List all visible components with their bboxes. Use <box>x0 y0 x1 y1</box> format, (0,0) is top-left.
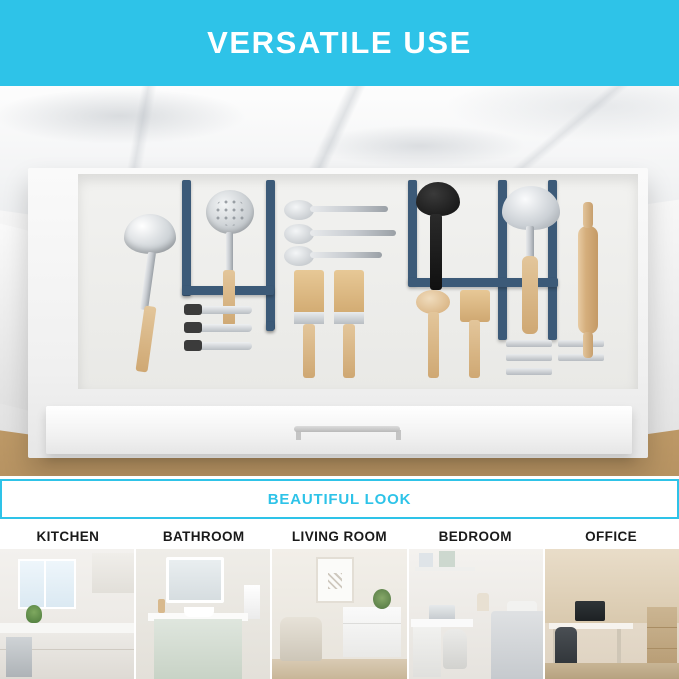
kitchen-upper-cabinet <box>92 553 134 593</box>
living-room-photo <box>272 549 406 679</box>
fork-4 <box>558 340 604 347</box>
pot-lid-shaft <box>526 226 534 260</box>
knife-1-blade <box>198 306 252 314</box>
bedroom-photo <box>409 549 543 679</box>
beautiful-look-bar: BEAUTIFUL LOOK <box>0 479 679 519</box>
room-label-kitchen: KITCHEN <box>0 523 136 549</box>
living-room-sideboard <box>343 607 401 657</box>
serving-spoon-2-handle <box>310 230 396 236</box>
wooden-spatula-head <box>460 290 490 322</box>
serving-spoon-3-handle <box>310 252 382 258</box>
knife-2-blade <box>198 324 252 332</box>
divider-horizontal-3 <box>266 322 274 331</box>
hero-image <box>0 86 679 476</box>
living-room-plant <box>373 589 391 609</box>
wooden-spatula-handle <box>469 320 480 378</box>
fork-1 <box>506 340 552 347</box>
wooden-spoon-handle <box>428 312 439 378</box>
room-label-living-room: LIVING ROOM <box>272 523 408 549</box>
bathroom-bottle <box>158 599 165 613</box>
fork-5 <box>558 354 604 361</box>
bathroom-vanity <box>154 619 242 679</box>
bathroom-sink <box>184 607 214 617</box>
pastry-brush-1-ferrule <box>294 312 324 324</box>
bedroom-desk <box>411 619 473 627</box>
bedroom-shelf-box-2 <box>439 551 455 567</box>
rolling-pin-handle-top <box>583 202 593 228</box>
knife-1-handle <box>184 304 202 315</box>
knife-3-handle <box>184 340 202 351</box>
bedroom-shelf <box>415 567 475 571</box>
pastry-brush-2-bristles <box>334 270 364 314</box>
room-label-row: KITCHEN BATHROOM LIVING ROOM BEDROOM OFF… <box>0 523 679 549</box>
kitchen-photo <box>0 549 134 679</box>
pot-lid-handle <box>522 256 538 334</box>
room-label-bathroom: BATHROOM <box>136 523 272 549</box>
peeler-head <box>416 182 460 216</box>
skimmer-handle <box>223 270 235 326</box>
kitchen-appliance <box>6 637 32 677</box>
bedroom-lamp <box>477 593 489 611</box>
office-desk-leg-right <box>617 629 621 665</box>
office-floor <box>545 663 679 679</box>
divider-vertical-3 <box>408 180 417 284</box>
fork-2 <box>506 354 552 361</box>
office-cabinet <box>647 607 677 669</box>
rolling-pin-body <box>578 226 598 334</box>
pot-lid <box>502 186 560 230</box>
drawer-handle <box>294 426 400 432</box>
banner-title: VERSATILE USE <box>207 25 472 61</box>
product-infographic: VERSATILE USE <box>0 0 679 679</box>
room-label-bedroom: BEDROOM <box>407 523 543 549</box>
living-room-armchair <box>280 617 322 661</box>
kitchen-window <box>18 559 76 609</box>
bedroom-desk-chair <box>443 629 467 669</box>
rolling-pin-handle-bottom <box>583 332 593 358</box>
knife-2-handle <box>184 322 202 333</box>
pastry-brush-1-bristles <box>294 270 324 314</box>
peeler-handle <box>430 214 442 290</box>
kitchen-countertop <box>0 623 134 633</box>
ladle-handle <box>135 305 156 372</box>
room-thumbnail-row <box>0 549 679 679</box>
versatile-use-banner: VERSATILE USE <box>0 0 679 86</box>
bathroom-mirror <box>166 557 224 603</box>
room-label-office: OFFICE <box>543 523 679 549</box>
drawer-interior <box>78 174 638 389</box>
bedroom-bed <box>491 611 543 679</box>
pastry-brush-1-handle <box>303 324 315 378</box>
ladle-bowl <box>124 214 176 254</box>
living-room-floor <box>272 659 406 679</box>
skimmer-head <box>206 190 254 234</box>
living-room-wall-art <box>316 557 354 603</box>
beautiful-look-title: BEAUTIFUL LOOK <box>268 491 411 508</box>
ladle-shaft <box>140 252 156 311</box>
pastry-brush-2-handle <box>343 324 355 378</box>
knife-3-blade <box>198 342 252 350</box>
office-photo <box>545 549 679 679</box>
bathroom-photo <box>136 549 270 679</box>
fork-3 <box>506 368 552 375</box>
divider-vertical-2 <box>266 180 275 330</box>
serving-spoon-1-handle <box>310 206 388 212</box>
kitchen-plant <box>26 605 42 623</box>
wooden-spoon-bowl <box>416 290 450 314</box>
divider-vertical-1 <box>182 180 191 296</box>
office-monitor <box>575 601 605 621</box>
pastry-brush-2-ferrule <box>334 312 364 324</box>
skimmer-shaft <box>226 232 233 274</box>
bedroom-drawer-unit <box>413 627 441 677</box>
open-drawer <box>28 168 648 458</box>
bedroom-shelf-box-1 <box>419 553 433 567</box>
